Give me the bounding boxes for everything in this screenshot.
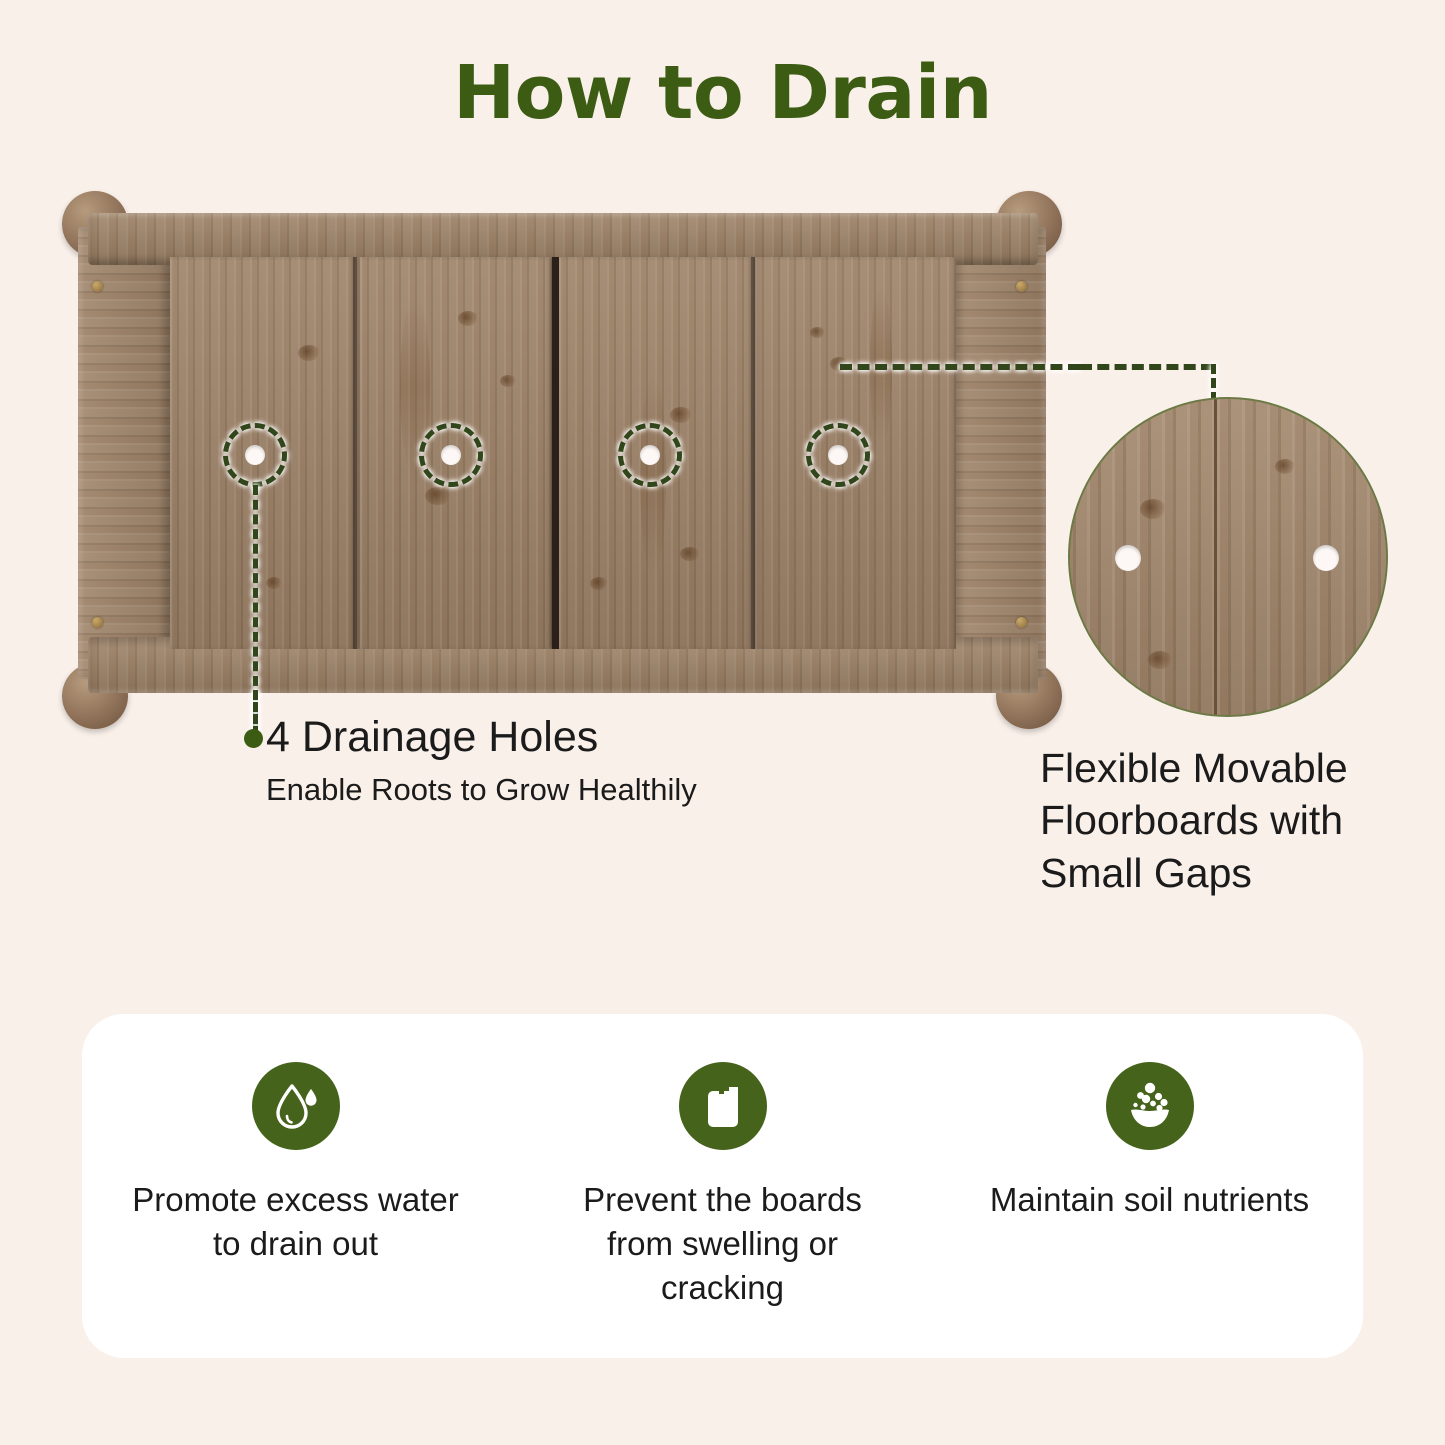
- soil-nutrients-icon: [1106, 1062, 1194, 1150]
- screw-bottom-left: [92, 617, 103, 628]
- callout-floorboards: Flexible Movable Floorboards with Small …: [1040, 742, 1410, 899]
- screw-bottom-right: [1016, 617, 1027, 628]
- cracked-board-icon: [679, 1062, 767, 1150]
- wood-knot-10: [266, 577, 282, 589]
- drainage-hole-4: [828, 445, 848, 465]
- benefits-list: Promote excess water to drain out Preven…: [82, 1014, 1363, 1358]
- callout-drainage-subtitle: Enable Roots to Grow Healthily: [266, 771, 886, 808]
- drainage-hole-3: [640, 445, 660, 465]
- callout-floorboards-line2: Floorboards with: [1040, 794, 1410, 846]
- drainage-hole-1: [245, 445, 265, 465]
- wood-knot-6: [680, 547, 700, 561]
- infographic-canvas: How to Drain: [0, 0, 1445, 1445]
- magnified-drainage-hole-right: [1313, 545, 1339, 571]
- board-seam-2: [751, 257, 755, 649]
- callout-floorboards-line1: Flexible Movable: [1040, 742, 1410, 794]
- screw-top-right: [1016, 281, 1027, 292]
- leader-line-gap-h2: [1080, 364, 1213, 370]
- magnified-board-left: [1068, 397, 1214, 717]
- board-seam-1: [353, 257, 357, 649]
- leader-line-gap-h1: [840, 364, 1080, 370]
- benefit-item-cracking: Prevent the boards from swelling or crac…: [509, 1014, 936, 1358]
- planter-bottom-view: [62, 185, 1062, 720]
- benefit-label-cracking: Prevent the boards from swelling or crac…: [558, 1178, 888, 1310]
- magnified-wood-knot-3: [1275, 459, 1295, 474]
- wood-knot-4: [425, 487, 451, 505]
- callout-floorboards-line3: Small Gaps: [1040, 847, 1410, 899]
- wood-knot-9: [590, 577, 608, 590]
- wood-knot-1: [298, 345, 320, 361]
- benefit-item-nutrients: Maintain soil nutrients: [936, 1014, 1363, 1358]
- drainage-hole-marker-1: [223, 423, 287, 487]
- benefits-card: Promote excess water to drain out Preven…: [82, 1014, 1363, 1358]
- magnified-wood-knot-1: [1140, 499, 1166, 519]
- magnified-wood-knot-2: [1148, 651, 1172, 669]
- leader-dot-marker: [244, 729, 263, 748]
- drainage-hole-2: [441, 445, 461, 465]
- callout-drainage-title: 4 Drainage Holes: [266, 714, 886, 761]
- water-drop-icon: [252, 1062, 340, 1150]
- drainage-hole-marker-3: [618, 423, 682, 487]
- wood-knot-2: [458, 311, 478, 326]
- benefit-label-drain: Promote excess water to drain out: [131, 1178, 461, 1266]
- page-title: How to Drain: [0, 50, 1445, 136]
- board-gap-center: [552, 257, 559, 649]
- drainage-hole-marker-4: [806, 423, 870, 487]
- wood-knot-3: [500, 375, 516, 387]
- leader-line-gap-v: [1211, 364, 1216, 402]
- magnified-drainage-hole-left: [1115, 545, 1141, 571]
- frame-rail-left: [78, 227, 170, 679]
- frame-rail-right: [954, 227, 1046, 679]
- callout-drainage-holes: 4 Drainage Holes Enable Roots to Grow He…: [266, 714, 886, 808]
- floorboard-gap-magnifier: [1068, 397, 1388, 717]
- benefit-label-nutrients: Maintain soil nutrients: [990, 1178, 1309, 1222]
- benefit-item-drain: Promote excess water to drain out: [82, 1014, 509, 1358]
- wood-knot-8: [810, 327, 825, 338]
- magnified-board-right: [1217, 397, 1388, 717]
- wood-knot-5: [670, 407, 692, 423]
- screw-top-left: [92, 281, 103, 292]
- drainage-hole-marker-2: [419, 423, 483, 487]
